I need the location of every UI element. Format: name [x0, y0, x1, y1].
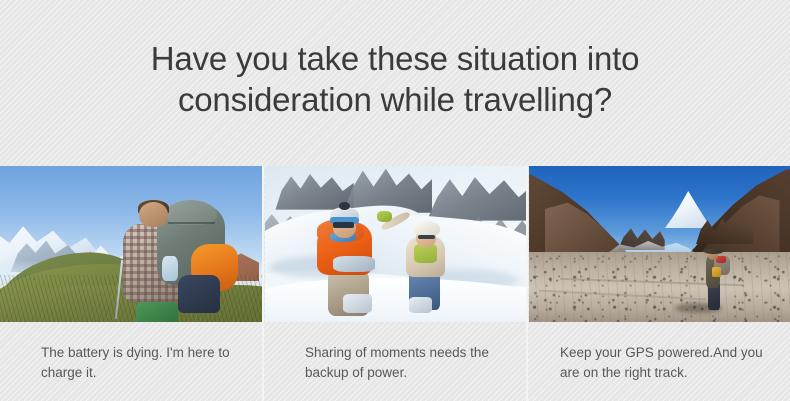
panel-hiking [0, 166, 262, 322]
hiking-photo [0, 166, 262, 322]
woman-knit-hat [414, 221, 440, 237]
man-hat-pompom [339, 202, 349, 210]
green-gear-bag [136, 300, 178, 322]
backpack-strap [168, 222, 215, 224]
gravel-texture [529, 252, 790, 322]
man-snow-boot [343, 294, 372, 313]
panel-snow [265, 166, 526, 322]
woman-mitten [377, 211, 391, 222]
man-sunglasses-icon [333, 222, 354, 227]
snow-photo [265, 166, 526, 322]
caption-hiking: The battery is dying. I'm here to charge… [41, 343, 246, 383]
woman-snow-boot [409, 297, 432, 313]
trek-photo [529, 166, 790, 322]
water-bottle [162, 256, 178, 281]
caption-trek: Keep your GPS powered.And you are on the… [560, 343, 770, 383]
man-gloves [333, 256, 375, 272]
page-title-line-2: consideration while travelling? [0, 79, 790, 120]
caption-row: The battery is dying. I'm here to charge… [0, 322, 790, 401]
backpack-yellow-item [712, 267, 721, 276]
navy-pack-pocket [178, 275, 220, 312]
page-title: Have you take these situation into consi… [0, 38, 790, 120]
promo-banner: Have you take these situation into consi… [0, 0, 790, 401]
hiker-head [139, 202, 168, 227]
page-title-line-1: Have you take these situation into [0, 38, 790, 79]
trekker-sun-hat [704, 249, 722, 254]
caption-snow: Sharing of moments needs the backup of p… [305, 343, 510, 383]
foreground-snow-drift [265, 278, 526, 322]
panel-image-row [0, 166, 790, 322]
panel-trek [529, 166, 790, 322]
woman-sunglasses-icon [418, 235, 435, 240]
